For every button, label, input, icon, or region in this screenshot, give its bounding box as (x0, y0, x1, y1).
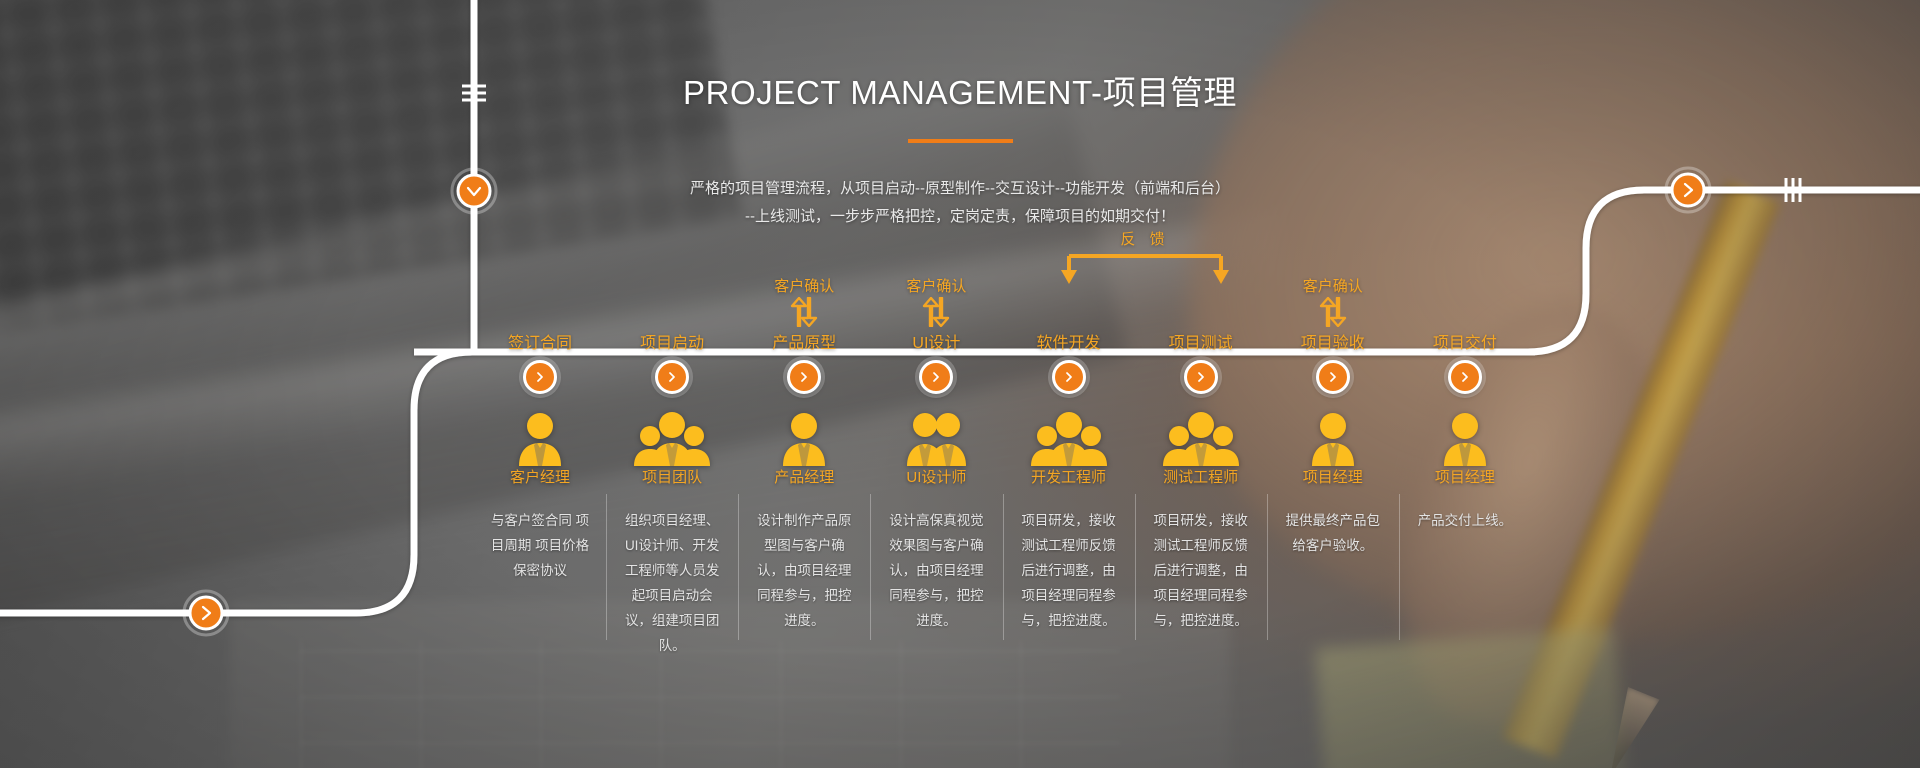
page-subtitle-line-1: 严格的项目管理流程，从项目启动--原型制作--交互设计--功能开发（前端和后台） (600, 175, 1320, 203)
step-1-desc-cell: 与客户签合同 项目周期 项目价格 保密协议 (474, 494, 606, 654)
step-2-role-icon-wrap (606, 400, 738, 468)
step-5-desc-cell: 项目研发，接收测试工程师反馈后进行调整，由项目经理同程参与，把控进度。 (1003, 494, 1135, 654)
step-1: 签订合同 客户经理 与客户签合同 项目周期 项目价格 保密协议 (474, 278, 606, 698)
step-8-name: 项目交付 (1399, 334, 1531, 356)
step-7-node[interactable] (1316, 360, 1350, 394)
step-4-confirm-label: 客户确认 (870, 278, 1002, 296)
step-3-confirm: 客户确认 (738, 278, 870, 334)
step-8-desc: 产品交付上线。 (1415, 508, 1515, 533)
step-5: 软件开发 开发工程师 项目研 (1003, 278, 1135, 698)
step-3-role: 产品经理 (738, 468, 870, 494)
step-2: 项目启动 项目团队 组织项目 (606, 278, 738, 698)
chevron-right-icon (666, 371, 678, 383)
step-8: 项目交付 项目经理 产品交付上线。 (1399, 278, 1531, 698)
step-2-confirm (606, 278, 738, 334)
step-1-role-icon-wrap (474, 400, 606, 468)
title-underline (908, 139, 1013, 143)
step-2-node-row (606, 356, 738, 400)
step-5-role: 开发工程师 (1003, 468, 1135, 494)
up-down-arrow-icon (1316, 297, 1350, 327)
step-6-desc: 项目研发，接收测试工程师反馈后进行调整，由项目经理同程参与，把控进度。 (1151, 508, 1251, 633)
step-7-confirm: 客户确认 (1267, 278, 1399, 334)
step-4: 客户确认 UI设计 (870, 278, 1002, 698)
step-2-desc-cell: 组织项目经理、UI设计师、开发工程师等人员发起项目启动会议，组建项目团队。 (606, 494, 738, 658)
step-4-node[interactable] (919, 360, 953, 394)
up-down-arrow-icon (787, 297, 821, 327)
chevron-right-icon (1195, 371, 1207, 383)
step-6-confirm (1135, 278, 1267, 334)
step-7-node-row (1267, 356, 1399, 400)
step-5-desc: 项目研发，接收测试工程师反馈后进行调整，由项目经理同程参与，把控进度。 (1019, 508, 1119, 633)
step-1-confirm (474, 278, 606, 334)
step-1-node[interactable] (523, 360, 557, 394)
chevron-right-icon (1063, 371, 1075, 383)
step-7-role-icon-wrap (1267, 400, 1399, 468)
step-8-desc-cell: 产品交付上线。 (1399, 494, 1531, 654)
step-3-desc: 设计制作产品原型图与客户确认，由项目经理同程参与，把控进度。 (754, 508, 854, 633)
step-6-desc-cell: 项目研发，接收测试工程师反馈后进行调整，由项目经理同程参与，把控进度。 (1135, 494, 1267, 654)
step-4-role-icon-wrap (870, 400, 1002, 468)
step-1-desc: 与客户签合同 项目周期 项目价格 保密协议 (490, 508, 590, 583)
person-single-icon (1306, 410, 1360, 466)
page-title: PROJECT MANAGEMENT-项目管理 (0, 66, 1920, 114)
step-3-confirm-label: 客户确认 (738, 278, 870, 296)
step-4-node-row (870, 356, 1002, 400)
step-2-node[interactable] (655, 360, 689, 394)
step-2-name: 项目启动 (606, 334, 738, 356)
step-6: 项目测试 测试工程师 项目研 (1135, 278, 1267, 698)
person-group-three-icon (1162, 410, 1240, 466)
person-group-two-icon (903, 410, 969, 466)
step-7-updown-arrow (1267, 297, 1399, 327)
step-4-confirm: 客户确认 (870, 278, 1002, 334)
person-single-icon (1438, 410, 1492, 466)
up-down-arrow-icon (919, 297, 953, 327)
step-3-node-row (738, 356, 870, 400)
step-7-confirm-label: 客户确认 (1267, 278, 1399, 296)
step-4-updown-arrow (870, 297, 1002, 327)
step-8-role-icon-wrap (1399, 400, 1531, 468)
page-subtitle-line-2: --上线测试，一步步严格把控，定岗定责，保障项目的如期交付！ (600, 203, 1320, 231)
step-4-desc: 设计高保真视觉效果图与客户确认，由项目经理同程参与，把控进度。 (886, 508, 986, 633)
step-2-desc: 组织项目经理、UI设计师、开发工程师等人员发起项目启动会议，组建项目团队。 (622, 508, 722, 658)
chevron-right-icon (1459, 371, 1471, 383)
feedback-label: 反 馈 (1055, 228, 1235, 249)
chevron-right-icon (1327, 371, 1339, 383)
step-7-role: 项目经理 (1267, 468, 1399, 494)
step-4-desc-cell: 设计高保真视觉效果图与客户确认，由项目经理同程参与，把控进度。 (870, 494, 1002, 654)
step-7: 客户确认 项目验收 (1267, 278, 1399, 698)
step-5-confirm (1003, 278, 1135, 334)
step-8-confirm (1399, 278, 1531, 334)
step-6-role-icon-wrap (1135, 400, 1267, 468)
step-1-node-row (474, 356, 606, 400)
step-5-node[interactable] (1052, 360, 1086, 394)
step-7-name: 项目验收 (1267, 334, 1399, 356)
step-5-name: 软件开发 (1003, 334, 1135, 356)
step-3-desc-cell: 设计制作产品原型图与客户确认，由项目经理同程参与，把控进度。 (738, 494, 870, 654)
step-3-name: 产品原型 (738, 334, 870, 356)
step-5-node-row (1003, 356, 1135, 400)
step-7-desc-cell: 提供最终产品包给客户验收。 (1267, 494, 1399, 654)
person-single-icon (777, 410, 831, 466)
step-2-role: 项目团队 (606, 468, 738, 494)
step-6-node[interactable] (1184, 360, 1218, 394)
step-7-desc: 提供最终产品包给客户验收。 (1283, 508, 1383, 558)
step-8-role: 项目经理 (1399, 468, 1531, 494)
step-5-role-icon-wrap (1003, 400, 1135, 468)
project-steps: 签订合同 客户经理 与客户签合同 项目周期 项目价格 保密协议 (474, 278, 1531, 698)
step-3-role-icon-wrap (738, 400, 870, 468)
step-3-node[interactable] (787, 360, 821, 394)
step-6-node-row (1135, 356, 1267, 400)
step-1-role: 客户经理 (474, 468, 606, 494)
step-6-name: 项目测试 (1135, 334, 1267, 356)
page-subtitle: 严格的项目管理流程，从项目启动--原型制作--交互设计--功能开发（前端和后台）… (600, 175, 1320, 231)
person-group-three-icon (633, 410, 711, 466)
chevron-right-icon (798, 371, 810, 383)
person-single-icon (513, 410, 567, 466)
step-8-node[interactable] (1448, 360, 1482, 394)
step-4-name: UI设计 (870, 334, 1002, 356)
step-1-name: 签订合同 (474, 334, 606, 356)
step-3-updown-arrow (738, 297, 870, 327)
chevron-right-icon (534, 371, 546, 383)
step-8-node-row (1399, 356, 1531, 400)
step-4-role: UI设计师 (870, 468, 1002, 494)
step-3: 客户确认 产品原型 (738, 278, 870, 698)
person-group-three-icon (1030, 410, 1108, 466)
step-6-role: 测试工程师 (1135, 468, 1267, 494)
chevron-right-icon (930, 371, 942, 383)
